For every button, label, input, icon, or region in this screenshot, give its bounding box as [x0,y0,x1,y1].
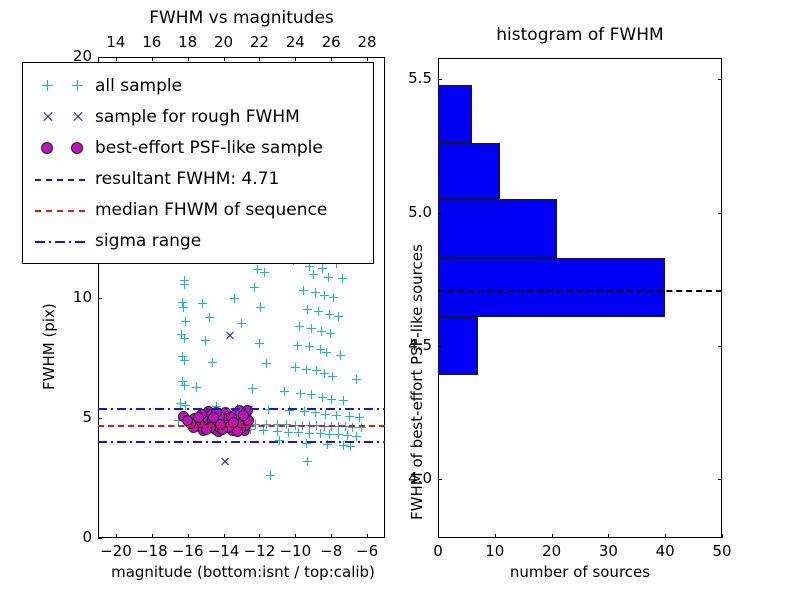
tick-label: −18 [132,542,172,560]
tick-label: 0 [52,528,92,546]
scatter-point-psf-like [240,413,251,424]
scatter-point-all-sample [208,358,217,367]
histogram-title: histogram of FWHM [438,25,722,45]
scatter-point-psf-like [214,411,225,422]
scatter-point-all-sample [302,365,311,374]
scatter-point-rough-fwhm [225,331,234,340]
tick-mark [98,538,102,539]
tick-label: 14 [104,33,128,51]
tick-label: −20 [96,542,136,560]
scatter-point-all-sample [295,322,304,331]
reference-line [98,408,385,410]
tick-mark [552,534,553,538]
scatter-point-all-sample [352,432,361,441]
legend-marker [31,170,95,188]
tick-label: −14 [204,542,244,560]
scatter-point-all-sample [336,351,345,360]
plot-legend: all samplesample for rough FWHMbest-effo… [22,62,374,264]
scatter-point-all-sample [205,313,214,322]
scatter-point-all-sample [305,342,314,351]
scatter-point-all-sample [192,383,201,392]
tick-label: −12 [239,542,279,560]
scatter-point-all-sample [303,305,312,314]
legend-label: all sample [95,77,182,95]
scatter-point-all-sample [299,286,308,295]
scatter-point-all-sample [180,276,189,285]
scatter-point-all-sample [273,427,282,436]
legend-marker [31,77,95,95]
scatter-point-all-sample [325,310,334,319]
scatter-point-all-sample [309,270,318,279]
scatter-point-psf-like [202,413,213,424]
histogram-bars-layer [438,58,722,538]
cross-icon [72,111,83,122]
scatter-point-all-sample [262,359,271,368]
scatter-point-all-sample [320,369,329,378]
scatter-point-all-sample [250,283,259,292]
scatter-point-all-sample [180,280,189,289]
scatter-plot-title: FWHM vs magnitudes [98,8,385,28]
scatter-point-all-sample [256,303,265,312]
scatter-point-all-sample [334,430,343,439]
tick-mark [438,479,442,480]
legend-row: all sample [31,70,363,101]
histogram-bar [438,317,478,376]
scatter-point-all-sample [316,345,325,354]
scatter-point-all-sample [339,396,348,405]
tick-mark [495,534,496,538]
scatter-point-all-sample [248,384,257,393]
tick-mark [665,534,666,538]
scatter-point-psf-like [218,410,229,421]
legend-marker [31,201,95,219]
scatter-point-all-sample [355,413,364,422]
scatter-point-all-sample [180,381,189,390]
tick-label: −16 [168,542,208,560]
scatter-point-all-sample [325,430,334,439]
tick-label: 18 [176,33,200,51]
tick-label: 10 [475,542,515,560]
scatter-point-all-sample [322,348,331,357]
scatter-point-all-sample [178,377,187,386]
scatter-point-psf-like [196,409,207,420]
scatter-point-all-sample [312,366,321,375]
circle-icon [71,142,83,154]
histogram-bar [438,85,472,144]
legend-row: median FHWM of sequence [31,194,363,225]
tick-mark [718,79,722,80]
scatter-point-all-sample [352,375,361,384]
tick-label: 5.0 [390,203,432,221]
scatter-point-all-sample [181,317,190,326]
tick-mark [438,534,439,538]
cross-icon [42,111,53,122]
scatter-y-axis-label: FWHM (pix) [40,303,58,390]
legend-label: median FHWM of sequence [95,201,327,219]
scatter-point-all-sample [259,426,268,435]
scatter-point-all-sample [296,389,305,398]
reference-line [98,441,385,443]
scatter-point-all-sample [311,408,320,417]
scatter-point-all-sample [318,264,327,273]
scatter-point-all-sample [280,387,289,396]
legend-row: sigma range [31,225,363,256]
scatter-point-all-sample [314,307,323,316]
scatter-point-all-sample [316,429,325,438]
plus-icon [72,80,83,91]
legend-label: sample for rough FWHM [95,108,300,126]
scatter-point-all-sample [253,265,262,274]
reference-line [98,425,385,427]
legend-label: sigma range [95,232,201,250]
histogram-median-line [438,290,722,292]
scatter-point-psf-like [236,411,247,422]
tick-label: 30 [588,542,628,560]
scatter-point-psf-like [206,409,217,420]
scatter-point-all-sample [311,288,320,297]
scatter-point-all-sample [303,457,312,466]
scatter-point-all-sample [198,299,207,308]
scatter-point-psf-like [226,412,237,423]
tick-mark [438,213,442,214]
tick-label: −6 [347,542,387,560]
scatter-point-all-sample [345,412,354,421]
scatter-point-all-sample [294,428,303,437]
tick-label: 16 [140,33,164,51]
legend-marker [31,139,95,157]
legend-label: best-effort PSF-like sample [95,139,323,157]
histogram-bar [438,143,500,199]
legend-label: resultant FWHM: 4.71 [95,170,279,188]
scatter-point-all-sample [321,410,330,419]
tick-label: 20 [532,542,572,560]
scatter-point-all-sample [237,319,246,328]
tick-mark [608,534,609,538]
scatter-point-all-sample [326,329,335,338]
tick-label: 10 [52,288,92,306]
scatter-point-all-sample [230,294,239,303]
scatter-point-all-sample [307,324,316,333]
tick-mark [438,346,442,347]
legend-row: resultant FWHM: 4.71 [31,163,363,194]
tick-label: −10 [275,542,315,560]
legend-row: best-effort PSF-like sample [31,132,363,163]
tick-mark [438,79,442,80]
legend-row: sample for rough FWHM [31,101,363,132]
circle-icon [41,142,53,154]
scatter-point-all-sample [332,411,341,420]
legend-marker [31,232,95,250]
tick-label: 26 [319,33,343,51]
histogram-y-axis-label: FWHM of best-effort PSF-like sources [408,244,426,520]
scatter-point-all-sample [343,431,352,440]
histogram-x-axis-label: number of sources [440,563,720,581]
scatter-point-all-sample [255,339,264,348]
scatter-point-all-sample [178,298,187,307]
scatter-point-all-sample [334,312,343,321]
scatter-point-all-sample [291,363,300,372]
scatter-point-psf-like [222,413,233,424]
scatter-point-psf-like [178,411,189,422]
tick-label: 5 [52,408,92,426]
tick-label: 20 [212,33,236,51]
scatter-point-all-sample [266,471,275,480]
scatter-point-all-sample [346,442,355,451]
scatter-point-psf-like [238,410,249,421]
scatter-point-psf-like [193,412,204,423]
scatter-point-all-sample [180,356,189,365]
dashdot-line-icon [35,241,85,243]
scatter-point-all-sample [174,416,183,425]
scatter-point-all-sample [327,395,336,404]
histogram-bar [438,258,665,317]
plus-icon [42,80,53,91]
tick-mark [718,213,722,214]
scatter-point-all-sample [284,428,293,437]
tick-label: 50 [702,542,742,560]
legend-marker [31,108,95,126]
scatter-point-all-sample [260,268,269,277]
scatter-point-all-sample [317,327,326,336]
scatter-point-psf-like [189,413,200,424]
scatter-x-axis-label: magnitude (bottom:isnt / top:calib) [78,563,408,581]
histogram-bar [438,199,557,258]
scatter-point-all-sample [180,334,189,343]
scatter-point-all-sample [318,393,327,402]
tick-label: 28 [355,33,379,51]
dashed-line-icon [35,179,85,181]
scatter-point-all-sample [177,330,186,339]
scatter-point-psf-like [213,426,224,437]
tick-label: 5.5 [390,69,432,87]
tick-label: 0 [418,542,458,560]
tick-mark [722,534,723,538]
scatter-point-all-sample [329,293,338,302]
scatter-point-all-sample [176,399,185,408]
scatter-point-all-sample [307,390,316,399]
scatter-point-all-sample [338,274,347,283]
scatter-point-all-sample [179,303,188,312]
scatter-point-all-sample [328,372,337,381]
scatter-point-all-sample [201,336,210,345]
tick-label: 22 [247,33,271,51]
scatter-point-psf-like [208,412,219,423]
scatter-point-psf-like [232,426,243,437]
figure-canvas: FWHM vs magnitudes 1416182022242628 −20−… [0,0,800,600]
scatter-point-all-sample [320,291,329,300]
tick-mark [718,346,722,347]
scatter-point-rough-fwhm [220,457,229,466]
scatter-point-all-sample [324,273,333,282]
tick-label: 40 [645,542,685,560]
tick-mark [718,479,722,480]
scatter-point-all-sample [293,341,302,350]
dashed-line-icon [35,210,85,212]
scatter-point-all-sample [178,352,187,361]
scatter-point-all-sample [305,429,314,438]
tick-label: 24 [283,33,307,51]
scatter-point-psf-like [230,409,241,420]
tick-label: −8 [311,542,351,560]
